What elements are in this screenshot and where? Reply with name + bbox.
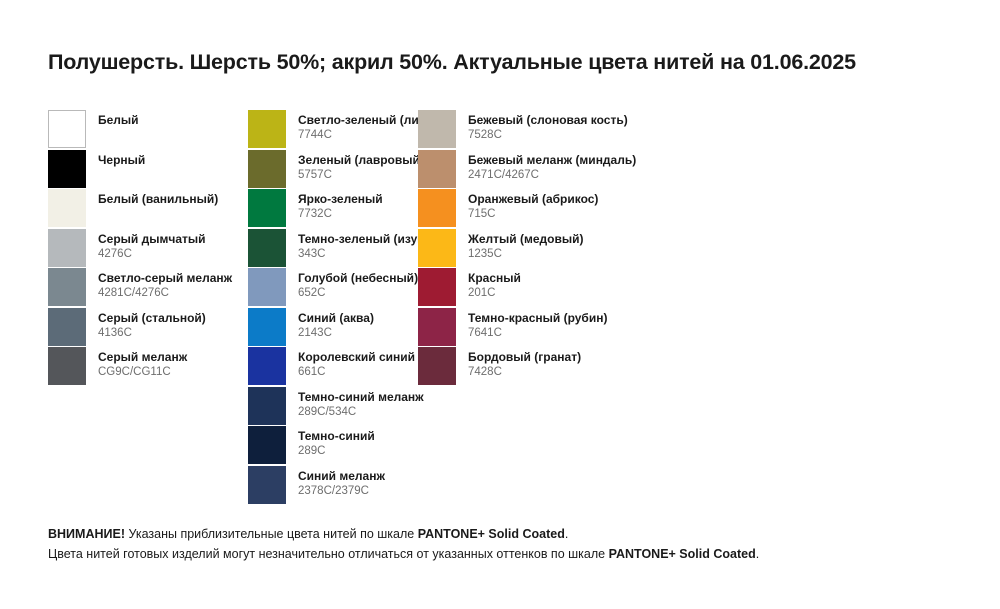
swatch-row: Бежевый меланж (миндаль)2471C/4267C (418, 150, 718, 190)
swatch-labels: Серый (стальной)4136C (98, 308, 206, 340)
swatch-name: Светло-зеленый (липа) (298, 113, 437, 127)
swatch-row: Королевский синий661C (248, 347, 418, 387)
swatch-column-2: Бежевый (слоновая кость)7528CБежевый мел… (418, 110, 718, 387)
footer-line-2-brand: PANTONE+ Solid Coated (609, 547, 756, 561)
swatch-name: Оранжевый (абрикос) (468, 192, 598, 206)
swatch-row: Ярко-зеленый7732C (248, 189, 418, 229)
swatch-row: Серый меланжCG9C/CG11C (48, 347, 248, 387)
color-swatch (418, 347, 456, 385)
footer-line-2: Цвета нитей готовых изделий могут незнач… (48, 544, 948, 564)
swatch-pantone-code: 201C (468, 286, 521, 300)
color-swatch (418, 268, 456, 306)
swatch-column-0: БелыйЧерныйБелый (ванильный)Серый дымчат… (48, 110, 248, 387)
swatch-labels: Темно-синий289C (298, 426, 375, 458)
swatch-pantone-code: 4136C (98, 326, 206, 340)
swatch-name: Синий меланж (298, 469, 385, 483)
color-swatch (418, 189, 456, 227)
swatch-pantone-code: 715C (468, 207, 598, 221)
color-swatch (248, 189, 286, 227)
footer-line-2-text: Цвета нитей готовых изделий могут незнач… (48, 547, 609, 561)
swatch-row: Темно-красный (рубин)7641C (418, 308, 718, 348)
footer-line-2-end: . (756, 547, 759, 561)
swatch-pantone-code: 7528C (468, 128, 628, 142)
swatch-row: Черный (48, 150, 248, 190)
swatch-name: Светло-серый меланж (98, 271, 232, 285)
swatch-row: Синий (аква)2143C (248, 308, 418, 348)
color-swatch (248, 150, 286, 188)
swatch-labels: Синий (аква)2143C (298, 308, 374, 340)
swatch-pantone-code: CG9C/CG11C (98, 365, 187, 379)
swatch-name: Желтый (медовый) (468, 232, 583, 246)
swatch-pantone-code: 661C (298, 365, 415, 379)
color-swatch (48, 268, 86, 306)
swatch-row: Белый (48, 110, 248, 150)
swatch-row: Зеленый (лавровый)5757C (248, 150, 418, 190)
swatch-labels: Серый дымчатый4276C (98, 229, 206, 261)
color-swatch (248, 308, 286, 346)
swatch-pantone-code: 4276C (98, 247, 206, 261)
swatch-name: Темно-красный (рубин) (468, 311, 607, 325)
swatch-name: Королевский синий (298, 350, 415, 364)
swatch-row: Серый (стальной)4136C (48, 308, 248, 348)
footer-attention-label: ВНИМАНИЕ! (48, 527, 125, 541)
swatch-labels: Черный (98, 150, 145, 167)
swatch-name: Темно-синий меланж (298, 390, 424, 404)
swatch-row: Темно-синий меланж289C/534C (248, 387, 418, 427)
color-swatch (248, 268, 286, 306)
swatch-labels: Голубой (небесный)652C (298, 268, 418, 300)
swatch-pantone-code: 7641C (468, 326, 607, 340)
color-swatch (48, 150, 86, 188)
swatch-labels: Желтый (медовый)1235C (468, 229, 583, 261)
swatch-row: Синий меланж2378C/2379C (248, 466, 418, 506)
swatch-pantone-code: 5757C (298, 168, 424, 182)
swatch-pantone-code: 289C (298, 444, 375, 458)
swatch-row: Голубой (небесный)652C (248, 268, 418, 308)
swatch-name: Темно-синий (298, 429, 375, 443)
footer-line-1: ВНИМАНИЕ! Указаны приблизительные цвета … (48, 524, 948, 544)
swatch-row: Желтый (медовый)1235C (418, 229, 718, 269)
color-swatch (248, 110, 286, 148)
swatch-row: Бордовый (гранат)7428C (418, 347, 718, 387)
footer-line-1-end: . (565, 527, 568, 541)
swatch-labels: Оранжевый (абрикос)715C (468, 189, 598, 221)
page-title: Полушерсть. Шерсть 50%; акрил 50%. Актуа… (48, 50, 856, 75)
swatch-labels: Белый (ванильный) (98, 189, 218, 206)
swatch-row: Светло-зеленый (липа)7744C (248, 110, 418, 150)
color-swatch (48, 308, 86, 346)
swatch-name: Серый меланж (98, 350, 187, 364)
swatch-row: Серый дымчатый4276C (48, 229, 248, 269)
footer-notice: ВНИМАНИЕ! Указаны приблизительные цвета … (48, 524, 948, 564)
swatch-name: Красный (468, 271, 521, 285)
swatch-pantone-code: 1235C (468, 247, 583, 261)
swatch-name: Серый дымчатый (98, 232, 206, 246)
swatch-labels: Белый (98, 110, 139, 127)
swatch-pantone-code: 289C/534C (298, 405, 424, 419)
swatch-column-1: Светло-зеленый (липа)7744CЗеленый (лавро… (248, 110, 418, 505)
swatch-name: Черный (98, 153, 145, 167)
swatch-name: Серый (стальной) (98, 311, 206, 325)
swatch-name: Бежевый (слоновая кость) (468, 113, 628, 127)
swatch-name: Голубой (небесный) (298, 271, 418, 285)
swatch-row: Темно-зеленый (изумруд)343C (248, 229, 418, 269)
footer-line-1-text: Указаны приблизительные цвета нитей по ш… (125, 527, 418, 541)
color-swatch (418, 110, 456, 148)
swatch-labels: Светло-серый меланж4281C/4276C (98, 268, 232, 300)
swatch-labels: Бежевый меланж (миндаль)2471C/4267C (468, 150, 636, 182)
color-swatch (48, 229, 86, 267)
swatch-labels: Ярко-зеленый7732C (298, 189, 383, 221)
swatch-pantone-code: 4281C/4276C (98, 286, 232, 300)
swatch-pantone-code: 652C (298, 286, 418, 300)
swatch-name: Белый (ванильный) (98, 192, 218, 206)
color-chart-page: Полушерсть. Шерсть 50%; акрил 50%. Актуа… (0, 0, 1000, 609)
swatch-pantone-code: 7428C (468, 365, 581, 379)
swatch-labels: Бордовый (гранат)7428C (468, 347, 581, 379)
color-swatch (48, 347, 86, 385)
swatch-name: Ярко-зеленый (298, 192, 383, 206)
color-swatch (418, 229, 456, 267)
swatch-row: Оранжевый (абрикос)715C (418, 189, 718, 229)
color-swatch (418, 308, 456, 346)
swatch-labels: Темно-синий меланж289C/534C (298, 387, 424, 419)
swatch-columns: БелыйЧерныйБелый (ванильный)Серый дымчат… (48, 110, 960, 505)
swatch-labels: Темно-красный (рубин)7641C (468, 308, 607, 340)
swatch-row: Светло-серый меланж4281C/4276C (48, 268, 248, 308)
swatch-row: Темно-синий289C (248, 426, 418, 466)
swatch-labels: Бежевый (слоновая кость)7528C (468, 110, 628, 142)
swatch-name: Белый (98, 113, 139, 127)
swatch-row: Красный201C (418, 268, 718, 308)
footer-line-1-brand: PANTONE+ Solid Coated (418, 527, 565, 541)
swatch-labels: Королевский синий661C (298, 347, 415, 379)
swatch-row: Бежевый (слоновая кость)7528C (418, 110, 718, 150)
swatch-name: Зеленый (лавровый) (298, 153, 424, 167)
swatch-name: Синий (аква) (298, 311, 374, 325)
swatch-pantone-code: 2143C (298, 326, 374, 340)
color-swatch (248, 229, 286, 267)
swatch-labels: Серый меланжCG9C/CG11C (98, 347, 187, 379)
swatch-pantone-code: 2471C/4267C (468, 168, 636, 182)
swatch-labels: Светло-зеленый (липа)7744C (298, 110, 437, 142)
swatch-labels: Синий меланж2378C/2379C (298, 466, 385, 498)
swatch-pantone-code: 7744C (298, 128, 437, 142)
swatch-name: Бордовый (гранат) (468, 350, 581, 364)
color-swatch (418, 150, 456, 188)
color-swatch (248, 387, 286, 425)
color-swatch (48, 110, 86, 148)
swatch-labels: Красный201C (468, 268, 521, 300)
swatch-pantone-code: 2378C/2379C (298, 484, 385, 498)
swatch-row: Белый (ванильный) (48, 189, 248, 229)
color-swatch (248, 426, 286, 464)
color-swatch (248, 466, 286, 504)
swatch-name: Бежевый меланж (миндаль) (468, 153, 636, 167)
swatch-pantone-code: 7732C (298, 207, 383, 221)
color-swatch (248, 347, 286, 385)
swatch-labels: Зеленый (лавровый)5757C (298, 150, 424, 182)
color-swatch (48, 189, 86, 227)
